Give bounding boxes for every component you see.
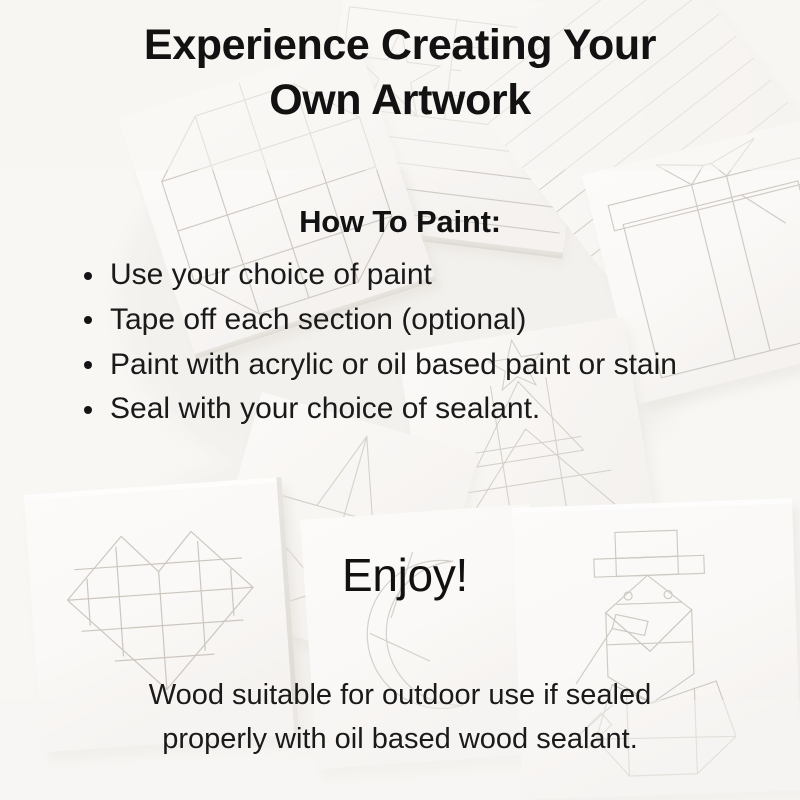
footer-line-1: Wood suitable for outdoor use if sealed (0, 673, 800, 717)
list-item-label: Paint with acrylic or oil based paint or… (110, 348, 677, 381)
bullet-icon (84, 406, 92, 414)
title-line-2: Own Artwork (269, 76, 531, 124)
title-line-1: Experience Creating Your (144, 21, 656, 69)
bullet-icon (84, 361, 92, 369)
poster-canvas: Experience Creating Your Own Artwork How… (0, 0, 800, 800)
list-item-label: Tape off each section (optional) (110, 303, 526, 336)
list-item-label: Use your choice of paint (110, 258, 432, 291)
text-overlay: Experience Creating Your Own Artwork How… (0, 0, 800, 800)
how-to-paint-heading: How To Paint: (0, 204, 800, 240)
page-title: Experience Creating Your Own Artwork (0, 18, 800, 128)
list-item: Seal with your choice of sealant. (76, 387, 766, 431)
footer-line-2: properly with oil based wood sealant. (0, 717, 800, 761)
enjoy-heading: Enjoy! (305, 548, 505, 602)
bullet-icon (84, 272, 92, 280)
instructions-list: Use your choice of paint Tape off each s… (76, 253, 766, 432)
bullet-icon (84, 316, 92, 324)
list-item: Paint with acrylic or oil based paint or… (76, 343, 766, 387)
list-item: Tape off each section (optional) (76, 298, 766, 342)
footer-note: Wood suitable for outdoor use if sealed … (0, 673, 800, 761)
list-item-label: Seal with your choice of sealant. (110, 392, 540, 425)
list-item: Use your choice of paint (76, 253, 766, 297)
